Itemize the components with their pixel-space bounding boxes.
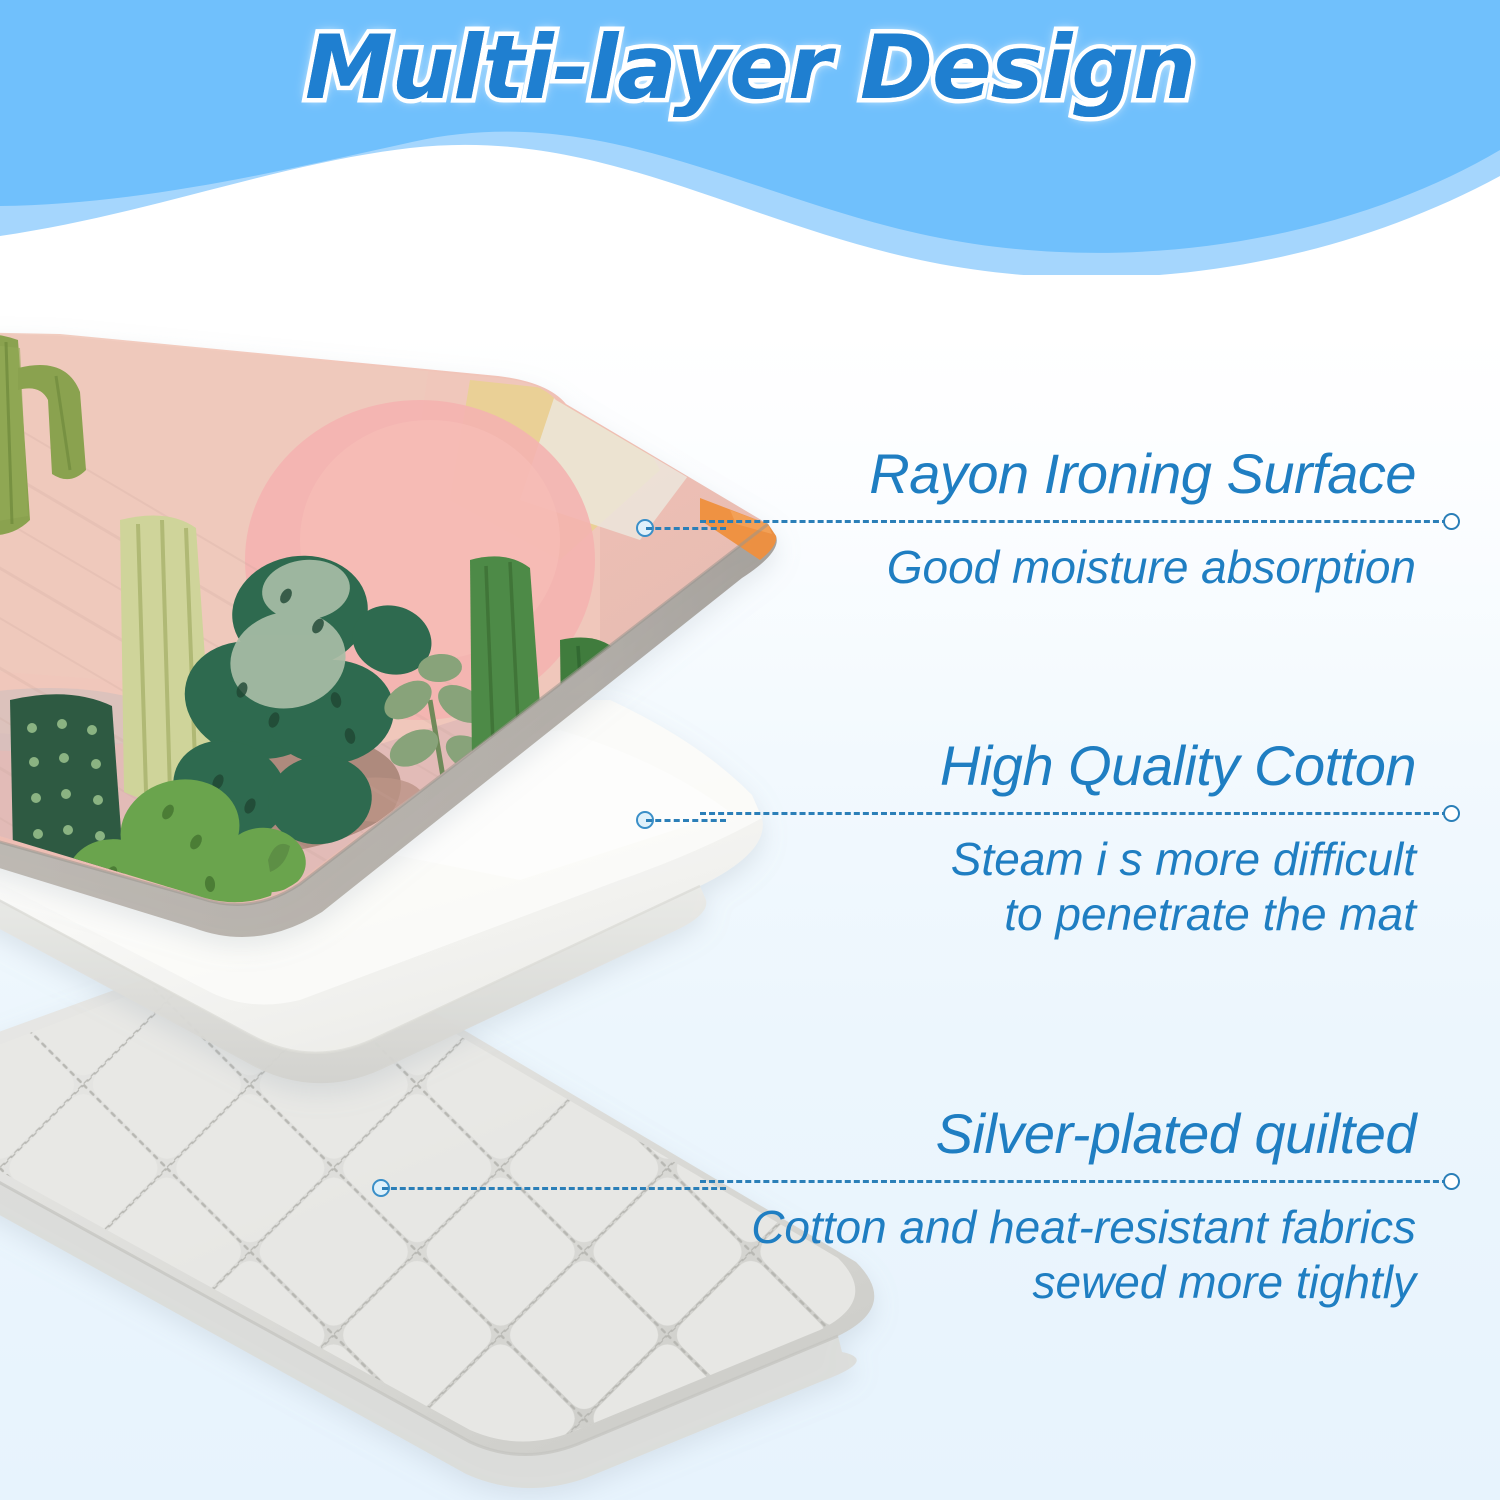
callout-line-cotton-2: to penetrate the mat [700, 887, 1460, 941]
callout-line-quilted-2: sewed more tightly [700, 1255, 1460, 1309]
infographic-page: Multi-layer Design Multi-layer Design Ra… [0, 0, 1500, 1500]
page-title-outline: Multi-layer Design [0, 16, 1500, 119]
callout-line-cotton-1: Steam i s more difficult [700, 832, 1460, 886]
callout-dash-rayon [700, 520, 1448, 523]
callout-rule-quilted [700, 1170, 1460, 1192]
callout-rule-cotton [700, 802, 1460, 824]
callout-title-cotton: High Quality Cotton [700, 736, 1460, 796]
callout-silver-plated-quilted: Silver-plated quilted Cotton and heat-re… [700, 1104, 1460, 1309]
connector-dash-quilted [382, 1187, 726, 1190]
callout-line-quilted-1: Cotton and heat-resistant fabrics [700, 1200, 1460, 1254]
callout-high-quality-cotton: High Quality Cotton Steam i s more diffi… [700, 736, 1460, 941]
callout-dash-quilted [700, 1180, 1448, 1183]
callout-title-rayon: Rayon Ironing Surface [700, 444, 1460, 504]
callout-end-dot-cotton [1443, 805, 1460, 822]
callout-rule-rayon [700, 510, 1460, 532]
callout-dash-cotton [700, 812, 1448, 815]
callout-line-rayon-1: Good moisture absorption [700, 540, 1460, 594]
callout-end-dot-rayon [1443, 513, 1460, 530]
callout-rayon-ironing-surface: Rayon Ironing Surface Good moisture abso… [700, 444, 1460, 595]
callout-end-dot-quilted [1443, 1173, 1460, 1190]
connector-line-quilted [372, 1177, 726, 1199]
callout-title-quilted: Silver-plated quilted [700, 1104, 1460, 1164]
